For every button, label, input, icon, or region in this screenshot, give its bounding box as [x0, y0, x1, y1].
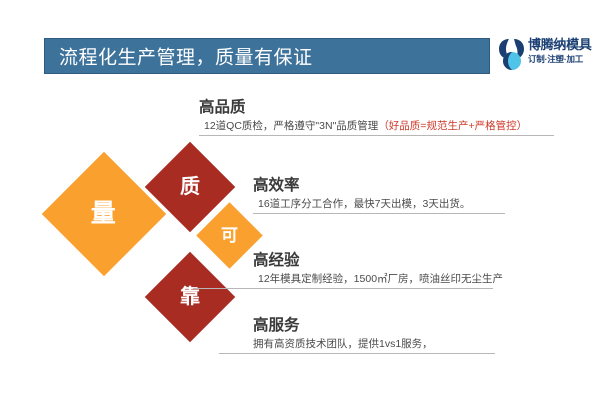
feature-efficiency-desc-main: 16道工序分工合作，最快7天出模，3天出货。 — [258, 198, 470, 210]
diamond-liang: 量 — [42, 152, 166, 276]
feature-experience-desc-main: 12年模具定制经验，1500㎡厂房，喷油丝印无尘生产 — [258, 273, 503, 285]
feature-service-desc: 拥有高资质技术团队，提供1vs1服务， — [253, 337, 495, 351]
feature-quality-rule — [199, 135, 554, 136]
feature-experience: 高经验 12年模具定制经验，1500㎡厂房，喷油丝印无尘生产 — [253, 252, 503, 289]
feature-experience-title: 高经验 — [253, 252, 503, 270]
logo-company-name: 博腾纳模具 — [528, 37, 592, 53]
feature-quality-desc-accent: （好品质=规范生产+严格管控） — [378, 120, 527, 132]
logo-text-block: 博腾纳模具 订制·注塑·加工 — [528, 37, 592, 66]
feature-quality-desc: 12道QC质检，严格遵守"3N"品质管理（好品质=规范生产+严格管控） — [199, 119, 554, 133]
feature-experience-rule — [193, 288, 493, 289]
feature-quality-title: 高品质 — [199, 99, 554, 117]
page-title: 流程化生产管理，质量有保证 — [59, 43, 313, 70]
diamond-liang-label: 量 — [91, 201, 116, 226]
feature-efficiency-title: 高效率 — [253, 177, 505, 195]
diamond-ke-label: 可 — [221, 227, 238, 244]
feature-quality: 高品质 12道QC质检，严格遵守"3N"品质管理（好品质=规范生产+严格管控） — [199, 99, 554, 136]
feature-experience-desc: 12年模具定制经验，1500㎡厂房，喷油丝印无尘生产 — [253, 272, 503, 286]
header-banner: 流程化生产管理，质量有保证 — [44, 38, 490, 74]
feature-quality-desc-main: 12道QC质检，严格遵守"3N"品质管理 — [204, 120, 378, 132]
feature-service: 高服务 拥有高资质技术团队，提供1vs1服务， — [253, 317, 495, 354]
feature-service-desc-main: 拥有高资质技术团队，提供1vs1服务， — [253, 338, 433, 350]
feature-service-title: 高服务 — [253, 317, 495, 335]
botengna-logo-icon — [497, 38, 527, 72]
feature-efficiency-rule — [253, 213, 505, 214]
slide-canvas: 流程化生产管理，质量有保证 博腾纳模具 订制·注塑·加工 量 质 可 靠 高品质 — [0, 0, 600, 400]
diamond-kao-label: 靠 — [180, 287, 200, 307]
company-logo: 博腾纳模具 订制·注塑·加工 — [497, 36, 593, 76]
feature-service-rule — [219, 353, 495, 354]
feature-efficiency-desc: 16道工序分工合作，最快7天出模，3天出货。 — [253, 197, 505, 211]
feature-efficiency: 高效率 16道工序分工合作，最快7天出模，3天出货。 — [253, 177, 505, 214]
diamond-kao: 靠 — [145, 252, 236, 343]
logo-tagline: 订制·注塑·加工 — [528, 53, 592, 66]
diamond-zhi-label: 质 — [180, 177, 200, 197]
